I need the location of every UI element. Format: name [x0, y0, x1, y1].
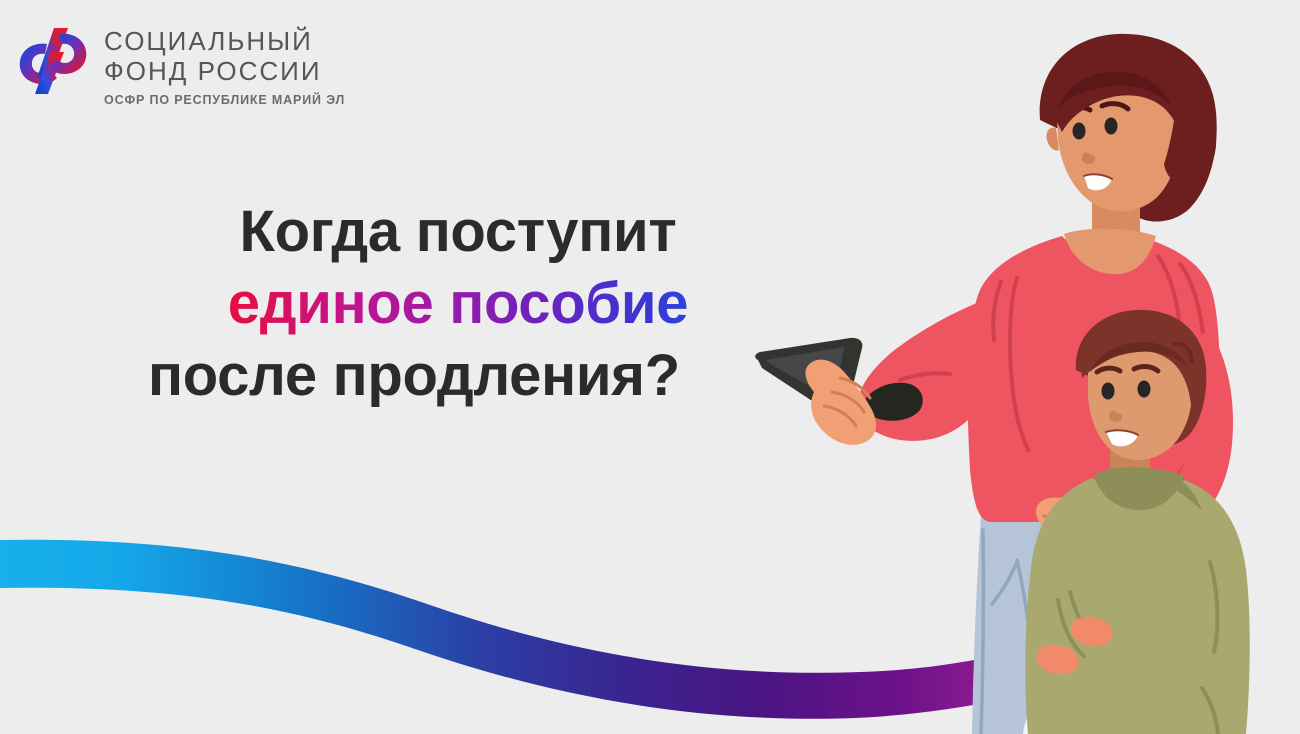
sfr-monogram-icon — [14, 22, 92, 96]
logo-subtitle: ОСФР ПО РЕСПУБЛИКЕ МАРИЙ ЭЛ — [104, 94, 345, 107]
logo-line-1: СОЦИАЛЬНЫЙ — [104, 26, 345, 56]
logo-line-2: ФОНД РОССИИ — [104, 56, 345, 86]
headline: Когда поступит единое пособие после прод… — [148, 196, 768, 412]
organization-logo: СОЦИАЛЬНЫЙ ФОНД РОССИИ ОСФР ПО РЕСПУБЛИК… — [14, 22, 345, 106]
headline-line-2-gradient: единое пособие — [148, 268, 768, 340]
poster-canvas: СОЦИАЛЬНЫЙ ФОНД РОССИИ ОСФР ПО РЕСПУБЛИК… — [0, 0, 1300, 734]
headline-line-1: Когда поступит — [148, 196, 768, 268]
headline-line-3: после продления? — [148, 340, 768, 412]
woman-arm-with-phone — [755, 300, 992, 445]
mother-and-son-with-phone-illustration — [740, 0, 1300, 734]
